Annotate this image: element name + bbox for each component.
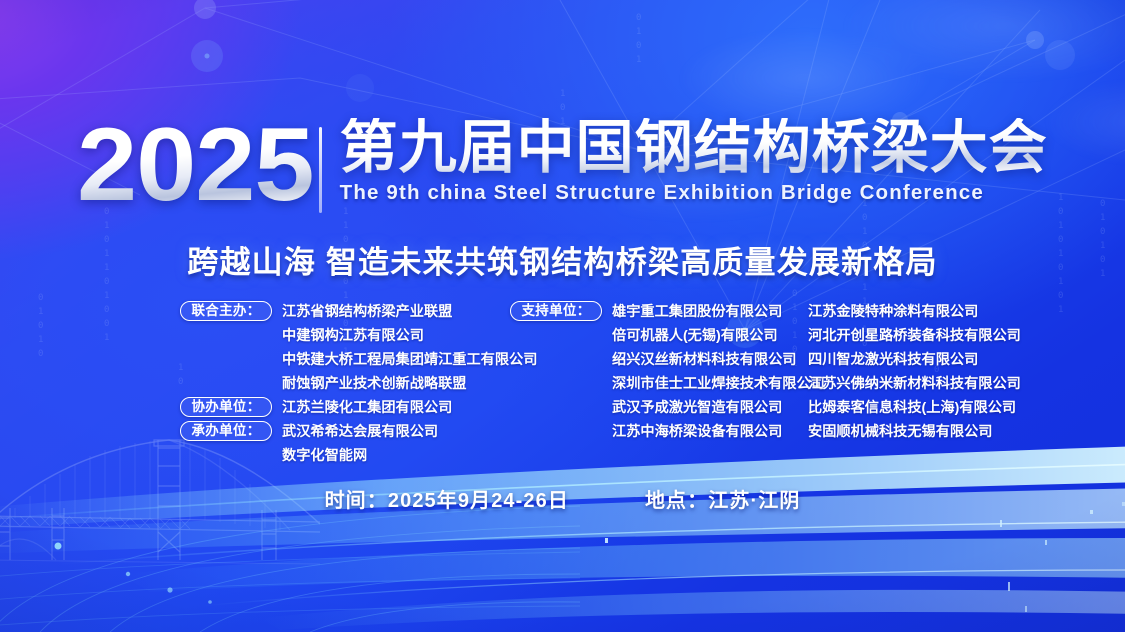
- event-date: 时间：2025年9月24-26日: [325, 484, 569, 513]
- list-item: 武汉予成激光智造有限公司: [612, 396, 825, 420]
- event-location: 地点：江苏·江阴: [645, 484, 800, 513]
- conference-title-cn: 第九届中国钢结构桥梁大会: [340, 118, 1048, 177]
- label-host: 承办单位：: [180, 421, 272, 441]
- list-item: 江苏兰陵化工集团有限公司: [282, 396, 452, 420]
- org-group-host: 承办单位： 武汉希希达会展有限公司 数字化智能网: [180, 420, 510, 468]
- list-item: 比姆泰客信息科技(上海)有限公司: [808, 396, 1068, 420]
- label-joint-host: 联合主办：: [180, 301, 272, 321]
- organizers-column-middle: 支持单位： 雄宇重工集团股份有限公司 倍可机器人(无锡)有限公司 绍兴汉丝新材料…: [510, 300, 800, 444]
- support-extra-list: 江苏金陵特种涂料有限公司 河北开创星路桥装备科技有限公司 四川智龙激光科技有限公…: [808, 300, 1068, 444]
- list-item: 江苏中海桥梁设备有限公司: [612, 420, 825, 444]
- organizers-column-right: 江苏金陵特种涂料有限公司 河北开创星路桥装备科技有限公司 四川智龙激光科技有限公…: [808, 300, 1068, 444]
- list-item: 河北开创星路桥装备科技有限公司: [808, 324, 1068, 348]
- conference-banner: 010 10 010 110 100 1 10 011 001 011 001 …: [0, 0, 1125, 632]
- list-item: 雄宇重工集团股份有限公司: [612, 300, 825, 324]
- list-item: 倍可机器人(无锡)有限公司: [612, 324, 825, 348]
- co-organizer-list: 江苏兰陵化工集团有限公司: [282, 396, 452, 420]
- title-text-group: 第九届中国钢结构桥梁大会 The 9th china Steel Structu…: [340, 118, 1048, 205]
- year-text: 2025: [77, 118, 328, 214]
- list-item: 绍兴汉丝新材料科技有限公司: [612, 348, 825, 372]
- list-item: 深圳市佳士工业焊接技术有限公司: [612, 372, 825, 396]
- list-item: 江苏省钢结构桥梁产业联盟: [282, 300, 537, 324]
- footer-block: 时间：2025年9月24-26日 地点：江苏·江阴: [0, 484, 1125, 513]
- label-co-organizer: 协办单位：: [180, 397, 272, 417]
- list-item: 安固顺机械科技无锡有限公司: [808, 420, 1068, 444]
- list-item: 武汉希希达会展有限公司: [282, 420, 438, 444]
- org-group-joint-host: 联合主办： 江苏省钢结构桥梁产业联盟 中建钢构江苏有限公司 中铁建大桥工程局集团…: [180, 300, 510, 396]
- org-group-support: 支持单位： 雄宇重工集团股份有限公司 倍可机器人(无锡)有限公司 绍兴汉丝新材料…: [510, 300, 800, 444]
- label-support: 支持单位：: [510, 301, 602, 321]
- organizers-column-left: 联合主办： 江苏省钢结构桥梁产业联盟 中建钢构江苏有限公司 中铁建大桥工程局集团…: [180, 300, 510, 468]
- list-item: 江苏金陵特种涂料有限公司: [808, 300, 1068, 324]
- conference-title-en: The 9th china Steel Structure Exhibition…: [340, 181, 1048, 205]
- list-item: 耐蚀钢产业技术创新战略联盟: [282, 372, 537, 396]
- list-item: 四川智龙激光科技有限公司: [808, 348, 1068, 372]
- list-item: 江苏兴佛纳米新材料科技有限公司: [808, 372, 1068, 396]
- support-list: 雄宇重工集团股份有限公司 倍可机器人(无锡)有限公司 绍兴汉丝新材料科技有限公司…: [612, 300, 825, 444]
- list-item: 中建钢构江苏有限公司: [282, 324, 537, 348]
- joint-host-list: 江苏省钢结构桥梁产业联盟 中建钢构江苏有限公司 中铁建大桥工程局集团靖江重工有限…: [282, 300, 537, 396]
- org-group-co-organizer: 协办单位： 江苏兰陵化工集团有限公司: [180, 396, 510, 420]
- list-item: 中铁建大桥工程局集团靖江重工有限公司: [282, 348, 537, 372]
- title-block: 2025 第九届中国钢结构桥梁大会 The 9th china Steel St…: [0, 118, 1125, 214]
- list-item: 数字化智能网: [282, 444, 438, 468]
- conference-slogan: 跨越山海 智造未来共筑钢结构桥梁高质量发展新格局: [0, 237, 1125, 282]
- host-list: 武汉希希达会展有限公司 数字化智能网: [282, 420, 438, 468]
